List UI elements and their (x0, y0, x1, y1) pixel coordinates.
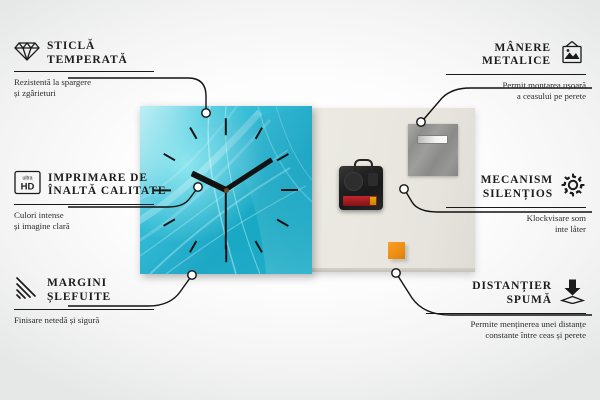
callout-rule (14, 309, 154, 310)
clock-center-hub (224, 188, 229, 193)
infographic-canvas: STICLĂ TEMPERATĂ Rezistentă la spargere … (0, 0, 600, 400)
mechanism-hook (354, 159, 373, 172)
clock-tick (281, 189, 298, 191)
callout-imprimare-calitate: ultra HD IMPRIMARE DE ÎNALTĂ CALITATE Cu… (14, 170, 154, 232)
second-hand (225, 190, 227, 250)
callout-title: MECANISM SILENȚIOS (481, 174, 553, 201)
gear-icon (560, 172, 586, 203)
callout-rule (426, 313, 586, 314)
mechanism-dial (344, 172, 363, 191)
callout-header: DISTANȚIER SPUMĂ (426, 278, 586, 309)
callout-margini-slefuite: MARGINI ȘLEFUITE Finisare netedă și sigu… (14, 276, 154, 326)
arrow-down-to-surface-icon (559, 278, 586, 309)
svg-text:HD: HD (21, 182, 35, 193)
mechanism-port (368, 173, 378, 186)
callout-header: MÂNERE METALICE (446, 40, 586, 70)
metal-hanger (408, 124, 458, 176)
diagonal-edge-icon (14, 276, 40, 305)
callout-rule (446, 207, 586, 208)
clock-tick (225, 118, 227, 135)
callout-header: MECANISM SILENȚIOS (446, 172, 586, 203)
callout-header: ultra HD IMPRIMARE DE ÎNALTĂ CALITATE (14, 170, 154, 200)
callout-header: STICLĂ TEMPERATĂ (14, 40, 154, 67)
callout-mecanism-silentios: MECANISM SILENȚIOS Klockvisare som in (446, 172, 586, 235)
callout-title: MARGINI ȘLEFUITE (47, 277, 111, 304)
clock-mechanism (339, 166, 383, 210)
callout-title: STICLĂ TEMPERATĂ (47, 40, 128, 67)
product-assembly (140, 106, 475, 274)
callout-title: DISTANȚIER SPUMĂ (472, 280, 552, 307)
hanger-slot (417, 135, 448, 144)
callout-header: MARGINI ȘLEFUITE (14, 276, 154, 305)
callout-distantier-spuma: DISTANȚIER SPUMĂ Permite menținerea unei… (426, 278, 586, 341)
battery (343, 196, 377, 206)
foam-spacer (388, 242, 405, 259)
callout-rule (14, 71, 154, 72)
diamond-icon (14, 40, 40, 67)
callout-manere-metalice: MÂNERE METALICE Permit montarea ușoară a… (446, 40, 586, 102)
callout-title: IMPRIMARE DE ÎNALTĂ CALITATE (48, 172, 166, 199)
callout-title: MÂNERE METALICE (482, 42, 551, 69)
callout-sticla-temperata: STICLĂ TEMPERATĂ Rezistentă la spargere … (14, 40, 154, 99)
ultra-hd-icon: ultra HD (14, 170, 41, 200)
picture-frame-hanger-icon (558, 40, 586, 70)
callout-rule (14, 204, 154, 205)
callout-rule (446, 74, 586, 75)
